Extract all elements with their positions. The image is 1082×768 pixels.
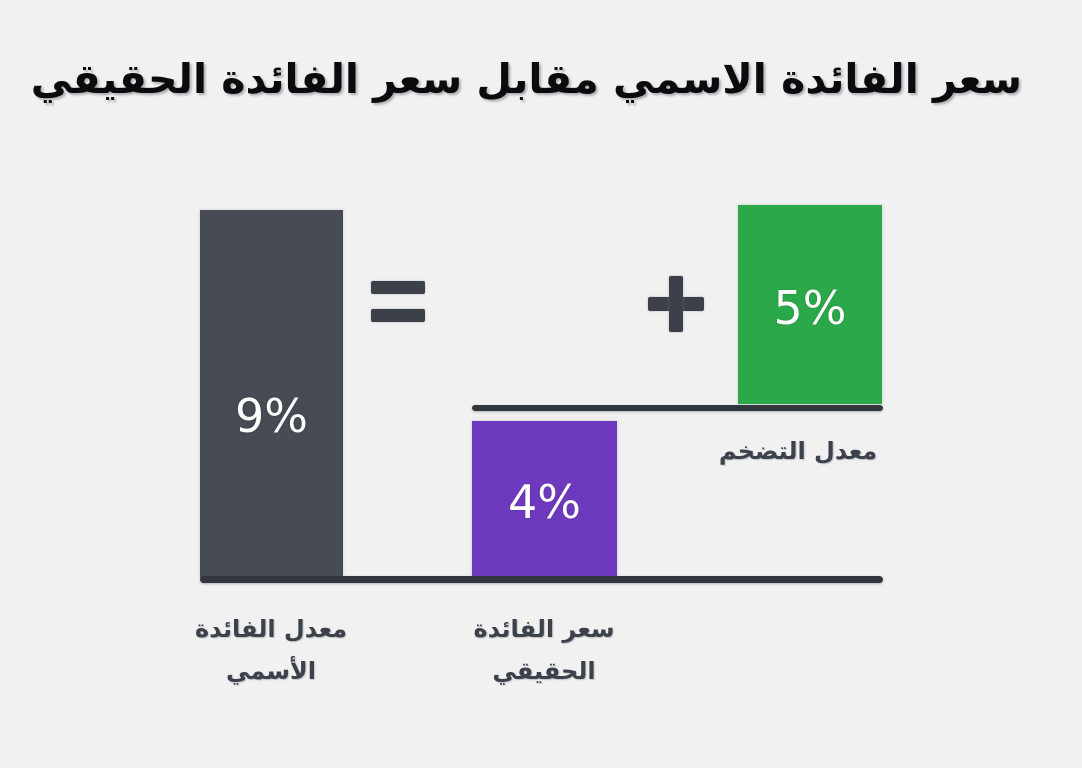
category-label-nominal-line2: الأسمي (165, 650, 377, 692)
category-label-nominal-line1: معدل الفائدة (165, 608, 377, 650)
equals-bar-top (371, 281, 425, 294)
axis-rule-upper (472, 405, 883, 411)
equals-bar-bottom (371, 309, 425, 322)
plus-operator-icon (648, 276, 704, 332)
category-label-nominal: معدل الفائدة الأسمي (165, 608, 377, 692)
category-label-real: سعر الفائدة الحقيقي (437, 608, 651, 692)
category-label-inflation-line1: معدل التضخم (700, 430, 896, 472)
category-label-real-line2: الحقيقي (437, 650, 651, 692)
axis-rule-baseline (200, 576, 883, 583)
page-title: سعر الفائدة الاسمي مقابل سعر الفائدة الح… (60, 56, 1022, 103)
bar-value-inflation: 5% (774, 281, 847, 335)
category-label-real-line1: سعر الفائدة (437, 608, 651, 650)
plus-bar-vertical (669, 276, 683, 332)
bar-real-interest-rate: 4% (472, 421, 617, 578)
bar-inflation-rate: 5% (738, 205, 882, 404)
bar-value-nominal: 9% (235, 389, 308, 443)
infographic-canvas: سعر الفائدة الاسمي مقابل سعر الفائدة الح… (0, 0, 1082, 768)
equals-operator-icon (371, 281, 425, 322)
bar-nominal-interest-rate: 9% (200, 210, 343, 578)
category-label-inflation: معدل التضخم (700, 430, 896, 472)
bar-value-real: 4% (508, 475, 581, 529)
